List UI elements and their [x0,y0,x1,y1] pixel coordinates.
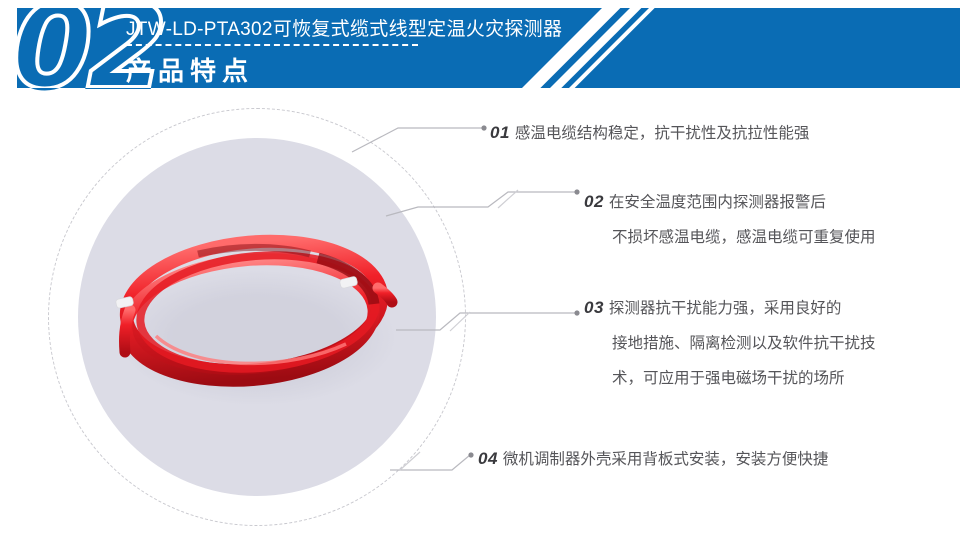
connector-dot-03 [574,310,579,315]
connector-dot-02 [574,189,579,194]
connector-dot-04 [468,452,473,457]
feature-item-03: 03探测器抗干扰能力强，采用良好的 接地措施、隔离检测以及软件抗干扰技 术，可应… [584,296,876,388]
heat-sensitive-cable-image [78,138,436,496]
feature-item-02: 02在安全温度范围内探测器报警后 不损坏感温电缆，感温电缆可重复使用 [584,190,876,247]
feature-text-03-line-3: 术，可应用于强电磁场干扰的场所 [612,366,876,388]
feature-text-02-line-2: 不损坏感温电缆，感温电缆可重复使用 [612,225,876,247]
feature-text-03-line-1: 探测器抗干扰能力强，采用良好的 [609,300,842,317]
feature-text-03-line-2: 接地措施、隔离检测以及软件抗干扰技 [612,331,876,353]
title-dashed-divider [126,44,418,46]
feature-number-02: 02 [584,192,604,211]
feature-number-03: 03 [584,298,604,317]
feature-number-04: 04 [478,449,498,468]
page-subtitle: 产品特点 [126,51,254,88]
connector-dot-01 [481,125,486,130]
badge-mask-left [0,0,17,96]
connector-tick-02 [498,190,518,208]
page-header: 02 02 JTW-LD-PTA302可恢复式缆式线型定温火灾探测器 产品特点 [0,0,960,96]
product-image-area [20,100,460,550]
feature-item-04: 04微机调制器外壳采用背板式安装，安装方便快捷 [478,447,828,469]
feature-text-04-line-1: 微机调制器外壳采用背板式安装，安装方便快捷 [503,451,829,468]
feature-text-02-line-1: 在安全温度范围内探测器报警后 [609,194,826,211]
feature-number-01: 01 [490,123,510,142]
feature-text-01-line-1: 感温电缆结构稳定，抗干扰性及抗拉性能强 [515,125,810,142]
feature-item-01: 01感温电缆结构稳定，抗干扰性及抗拉性能强 [490,121,809,143]
page-title: JTW-LD-PTA302可恢复式缆式线型定温火灾探测器 [126,14,562,41]
